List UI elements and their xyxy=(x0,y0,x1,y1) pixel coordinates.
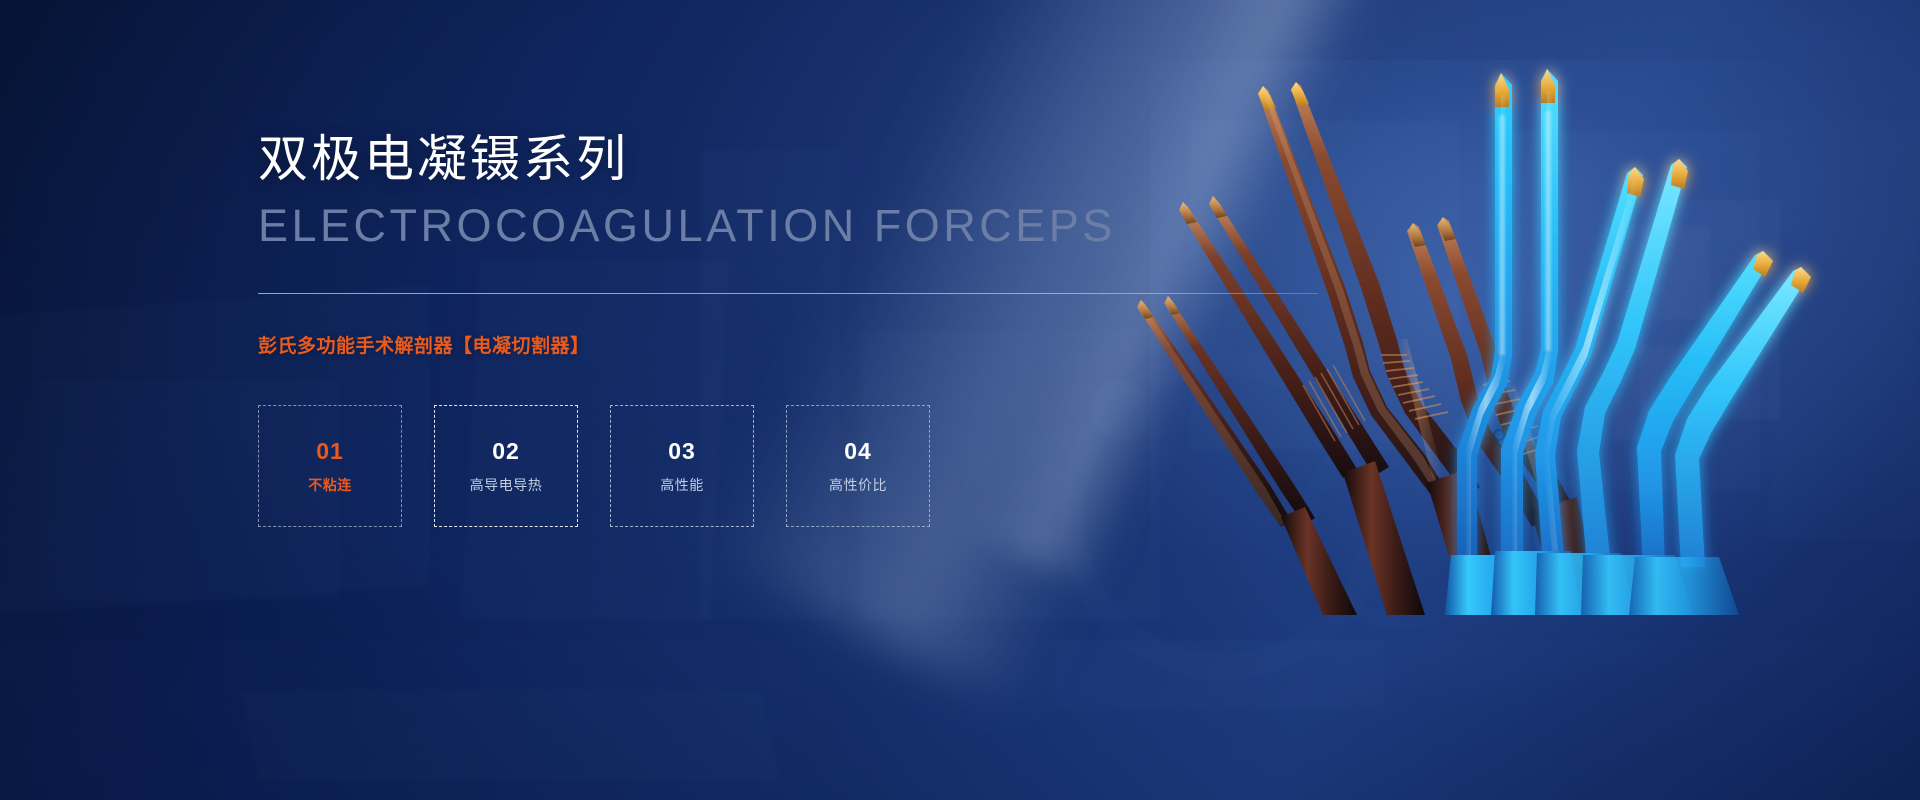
feature-card-03[interactable]: 03 高性能 xyxy=(610,405,754,527)
title-divider xyxy=(258,293,1318,294)
feature-number: 02 xyxy=(492,440,520,463)
forceps-blue-handles xyxy=(1445,551,1739,615)
feature-list: 01 不粘连 02 高导电导热 03 高性能 04 高性价比 xyxy=(258,405,1358,527)
feature-card-01[interactable]: 01 不粘连 xyxy=(258,405,402,527)
feature-number: 03 xyxy=(668,440,696,463)
product-subtitle: 彭氏多功能手术解剖器【电凝切割器】 xyxy=(258,331,1358,358)
feature-label: 高性能 xyxy=(660,478,704,492)
product-banner: 双极电凝镊系列 ELECTROCOAGULATION FORCEPS 彭氏多功能… xyxy=(0,0,1920,800)
feature-label: 高导电导热 xyxy=(470,478,543,492)
banner-content: 双极电凝镊系列 ELECTROCOAGULATION FORCEPS 彭氏多功能… xyxy=(258,130,1358,527)
page-title-en: ELECTROCOAGULATION FORCEPS xyxy=(258,201,1358,251)
feature-label: 高性价比 xyxy=(829,478,887,492)
feature-number: 04 xyxy=(844,440,872,463)
feature-number: 01 xyxy=(316,440,344,463)
feature-label: 不粘连 xyxy=(308,478,352,492)
page-title-cn: 双极电凝镊系列 xyxy=(258,130,1358,189)
feature-card-04[interactable]: 04 高性价比 xyxy=(786,405,930,527)
feature-card-02[interactable]: 02 高导电导热 xyxy=(434,405,578,527)
